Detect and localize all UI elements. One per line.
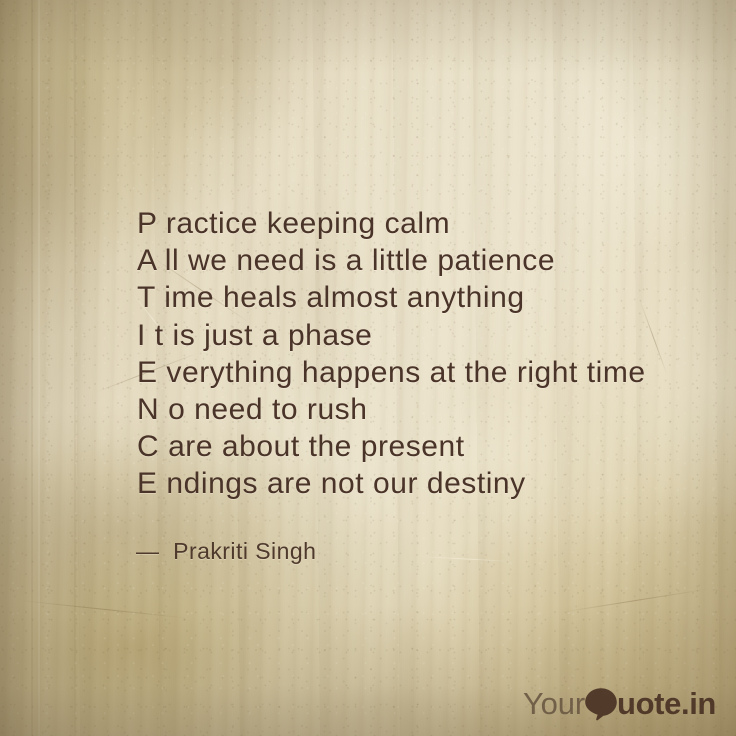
poem-line: A ll we need is a little patience xyxy=(137,242,707,279)
poem-line: E ndings are not our destiny xyxy=(137,465,707,502)
poem-line: E verything happens at the right time xyxy=(137,354,707,391)
speech-bubble-icon xyxy=(584,687,618,721)
yourquote-watermark-logo[interactable]: Your uote.in xyxy=(523,684,716,724)
quote-card: P ractice keeping calm A ll we need is a… xyxy=(0,0,736,736)
poem-line: N o need to rush xyxy=(137,391,707,428)
logo-suffix-text: uote.in xyxy=(617,686,716,722)
poem-body: P ractice keeping calm A ll we need is a… xyxy=(137,205,707,503)
author-attribution: — Prakriti Singh xyxy=(136,538,316,565)
poem-line: T ime heals almost anything xyxy=(137,279,707,316)
poem-line: P ractice keeping calm xyxy=(137,205,707,242)
poem-line: I t is just a phase xyxy=(137,317,707,354)
poem-line: C are about the present xyxy=(137,428,707,465)
logo-prefix-text: Your xyxy=(523,686,585,722)
